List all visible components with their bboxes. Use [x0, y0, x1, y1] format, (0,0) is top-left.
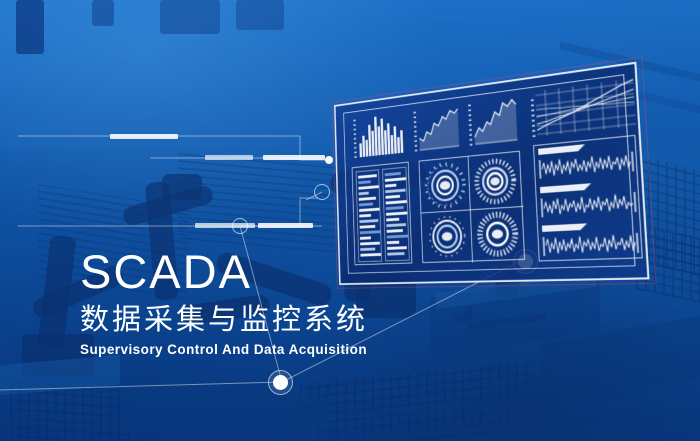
waveform-3-trace — [545, 234, 635, 254]
hud-bar-5 — [258, 223, 313, 228]
widget-multiline-grid-chart[interactable] — [530, 74, 635, 139]
list-item — [387, 246, 407, 250]
gauge-top-right — [471, 155, 519, 207]
list-item — [358, 174, 377, 178]
grid-chart-series-b — [536, 89, 635, 124]
hud-bar-3 — [263, 155, 325, 160]
list-item — [386, 218, 399, 222]
waveform-3-cap-left — [543, 237, 544, 256]
bar — [400, 130, 403, 153]
hud-bar-2 — [205, 155, 253, 160]
hud-node-ring-a — [314, 184, 330, 200]
list-item — [360, 242, 380, 246]
waveform-1-trace — [542, 153, 631, 177]
list-item — [385, 189, 405, 193]
list-item — [387, 235, 408, 239]
hud-node-dot-a — [325, 156, 333, 164]
grid-chart-series-a — [535, 79, 635, 130]
list-item — [360, 236, 371, 239]
list-item — [360, 225, 376, 229]
grid-chart-series-c — [536, 97, 635, 117]
gauge-bottom-right — [474, 208, 523, 259]
widget-waveform-1[interactable] — [538, 139, 634, 181]
list-item — [360, 230, 380, 234]
gauge-bottom-left — [425, 211, 470, 261]
line-chart-1-area — [418, 109, 459, 151]
list-item — [385, 184, 396, 188]
list-item — [358, 185, 378, 189]
list-column-right[interactable] — [382, 167, 410, 262]
list-item — [359, 219, 378, 223]
gauge-top-left — [423, 160, 468, 210]
widget-gauge-grid[interactable] — [419, 151, 526, 263]
line-chart-2-baseline — [475, 140, 517, 144]
hud-bar-1 — [110, 134, 178, 139]
list-item — [385, 177, 406, 182]
grid-chart-gridlines — [535, 78, 636, 136]
waveform-1-cap-left — [540, 160, 541, 179]
list-item — [358, 180, 370, 184]
waveform-2-trace — [544, 193, 634, 215]
list-item — [387, 252, 404, 256]
list-item — [359, 197, 376, 201]
grid-chart-axis-ticks — [531, 96, 536, 137]
line-chart-2-axis-ticks — [468, 102, 473, 146]
line-chart-1-axis-ticks — [413, 109, 417, 151]
widget-line-chart-1[interactable] — [413, 104, 459, 152]
list-item — [387, 229, 403, 233]
list-item — [359, 208, 379, 212]
list-item — [385, 172, 401, 176]
bar-chart-axis-ticks — [353, 117, 357, 157]
line-chart-2-area — [473, 99, 517, 145]
hud-node-ring-b — [232, 218, 248, 234]
subtitle-chinese: 数据采集与监控系统 — [80, 304, 368, 337]
list-item — [385, 195, 400, 199]
list-item — [386, 212, 407, 216]
list-item — [359, 203, 373, 207]
widget-bar-chart[interactable] — [353, 111, 403, 158]
waveform-2-cap-left — [542, 198, 543, 217]
widget-waveform-2[interactable] — [540, 180, 637, 221]
list-item — [359, 214, 371, 218]
list-item — [386, 206, 404, 210]
subtitle-english: Supervisory Control And Data Acquisition — [80, 342, 368, 357]
list-item — [386, 223, 406, 227]
list-item — [387, 241, 399, 244]
waveform-2-header-tab — [540, 184, 584, 194]
hud-node-solid-bottom — [273, 375, 288, 390]
list-item — [386, 200, 407, 204]
scada-banner: SCADA 数据采集与监控系统 Supervisory Control And … — [0, 0, 700, 441]
grid-chart-series-d — [536, 98, 634, 114]
widget-line-chart-2[interactable] — [468, 96, 518, 145]
page-title: SCADA — [80, 248, 368, 296]
widget-waveform-3[interactable] — [542, 221, 639, 260]
waveform-stack — [533, 135, 643, 262]
list-item — [359, 192, 369, 196]
headline-block: SCADA 数据采集与监控系统 Supervisory Control And … — [80, 248, 368, 357]
